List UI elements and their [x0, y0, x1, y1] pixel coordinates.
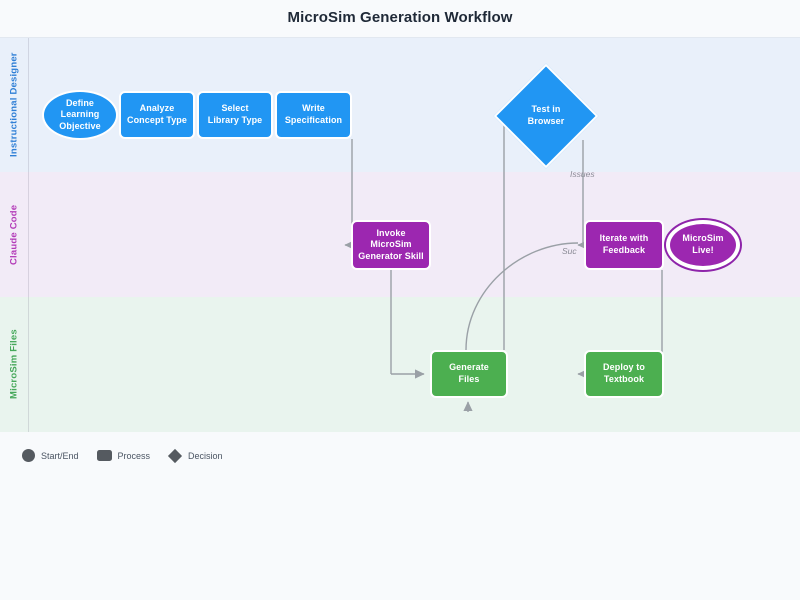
legend-item-label: Start/End [41, 451, 79, 461]
diagram-header: MicroSim Generation Workflow [0, 0, 800, 38]
node-select-library-type[interactable]: SelectLibrary Type [197, 91, 273, 139]
node-write-specification[interactable]: WriteSpecification [275, 91, 352, 139]
node-label: WriteSpecification [282, 103, 345, 126]
legend-item-label: Decision [188, 451, 223, 461]
page-title: MicroSim Generation Workflow [0, 9, 800, 26]
node-deploy-to-textbook[interactable]: Deploy toTextbook [584, 350, 664, 398]
node-invoke-microsim-generator-skill[interactable]: Invoke MicroSimGenerator Skill [351, 220, 431, 270]
node-microsim-live[interactable]: MicroSimLive! [668, 222, 738, 268]
node-analyze-concept-type[interactable]: AnalyzeConcept Type [119, 91, 195, 139]
node-label: MicroSimLive! [679, 233, 726, 256]
legend: Start/EndProcessDecision [22, 449, 223, 462]
swimlane-microsim-files: MicroSim Files [0, 297, 800, 432]
swimlane-label-instructional-designer: Instructional Designer [0, 38, 28, 172]
node-label: Define LearningObjective [44, 98, 116, 133]
node-label: SelectLibrary Type [205, 103, 266, 126]
node-label: GenerateFiles [446, 362, 492, 385]
node-generate-files[interactable]: GenerateFiles [430, 350, 508, 398]
swimlane-separator [28, 172, 29, 297]
legend-swatch-diamond-icon [168, 448, 182, 462]
node-label: Deploy toTextbook [600, 362, 648, 385]
node-label: AnalyzeConcept Type [124, 103, 190, 126]
node-test-in-browser[interactable]: Test inBrowser [509, 79, 583, 153]
swimlane-separator [28, 297, 29, 432]
swimlane-label-claude-code: Claude Code [0, 172, 28, 297]
node-label: Test inBrowser [525, 104, 568, 127]
legend-item-process: Process [97, 450, 151, 461]
workflow-diagram-canvas: MicroSim Generation Workflow Instruction… [0, 0, 800, 600]
node-define-learning-objective[interactable]: Define LearningObjective [42, 90, 118, 140]
legend-item-label: Process [118, 451, 151, 461]
legend-item-start-end: Start/End [22, 449, 79, 462]
node-label: Iterate withFeedback [597, 233, 652, 256]
legend-swatch-circle-icon [22, 449, 35, 462]
swimlane-separator [28, 38, 29, 172]
legend-swatch-square-icon [97, 450, 112, 461]
node-label: Invoke MicroSimGenerator Skill [353, 228, 429, 263]
edge-label-success: Suc [562, 246, 577, 256]
swimlane-label-microsim-files: MicroSim Files [0, 297, 28, 432]
legend-item-decision: Decision [168, 451, 223, 461]
node-iterate-with-feedback[interactable]: Iterate withFeedback [584, 220, 664, 270]
edge-label-issues: Issues [570, 169, 595, 179]
